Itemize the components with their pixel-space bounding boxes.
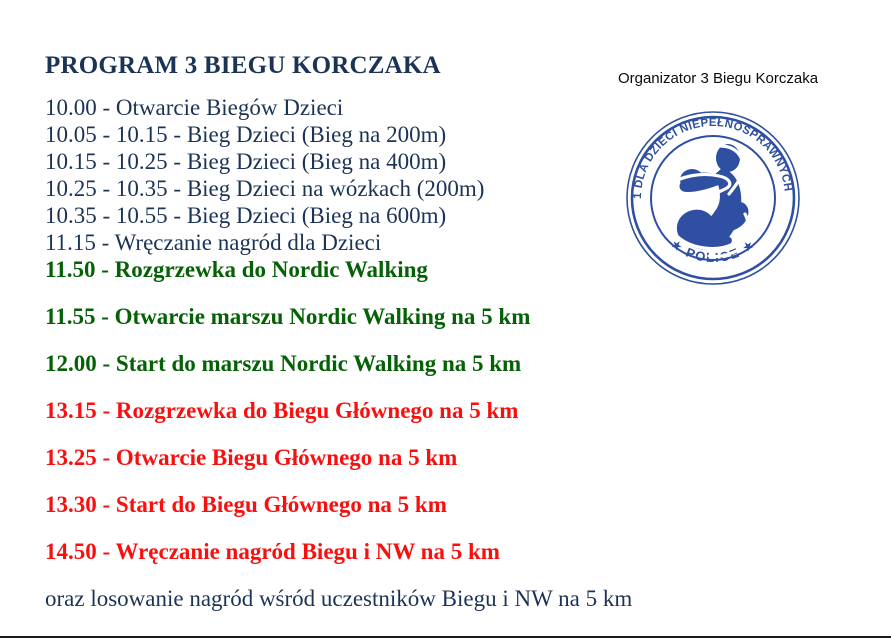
schedule-list: 10.00 - Otwarcie Biegów Dzieci10.05 - 10…: [45, 94, 605, 612]
page-title: PROGRAM 3 BIEGU KORCZAKA: [45, 52, 605, 80]
schedule-line: 10.00 - Otwarcie Biegów Dzieci: [45, 94, 605, 121]
schedule-line: 11.15 - Wręczanie nagród dla Dzieci: [45, 229, 605, 256]
schedule-line: 13.30 - Start do Biegu Głównego na 5 km: [45, 491, 605, 518]
schedule-line: 11.55 - Otwarcie marszu Nordic Walking n…: [45, 303, 605, 330]
schedule-line: 10.35 - 10.55 - Bieg Dzieci (Bieg na 600…: [45, 202, 605, 229]
schedule-line: 12.00 - Start do marszu Nordic Walking n…: [45, 350, 605, 377]
organizer-logo: SOSW NR 1 DLA DZIECI NIEPEŁNOSPRAWNYCH R…: [623, 106, 803, 288]
program-section: PROGRAM 3 BIEGU KORCZAKA 10.00 - Otwarci…: [45, 52, 605, 612]
schedule-line: 13.15 - Rozgrzewka do Biegu Głównego na …: [45, 397, 605, 424]
poster-page: PROGRAM 3 BIEGU KORCZAKA 10.00 - Otwarci…: [0, 0, 891, 638]
schedule-line: 10.15 - 10.25 - Bieg Dzieci (Bieg na 400…: [45, 148, 605, 175]
organizer-section: Organizator 3 Biegu Korczaka: [588, 70, 848, 88]
schedule-line: 10.25 - 10.35 - Bieg Dzieci na wózkach (…: [45, 175, 605, 202]
schedule-line: 11.50 - Rozgrzewka do Nordic Walking: [45, 256, 605, 283]
schedule-line: oraz losowanie nagród wśród uczestników …: [45, 585, 605, 612]
organizer-label: Organizator 3 Biegu Korczaka: [588, 70, 848, 88]
schedule-line: 13.25 - Otwarcie Biegu Głównego na 5 km: [45, 444, 605, 471]
sosw-police-emblem-icon: SOSW NR 1 DLA DZIECI NIEPEŁNOSPRAWNYCH R…: [623, 106, 803, 288]
schedule-line: 14.50 - Wręczanie nagród Biegu i NW na 5…: [45, 538, 605, 565]
schedule-line: 10.05 - 10.15 - Bieg Dzieci (Bieg na 200…: [45, 121, 605, 148]
